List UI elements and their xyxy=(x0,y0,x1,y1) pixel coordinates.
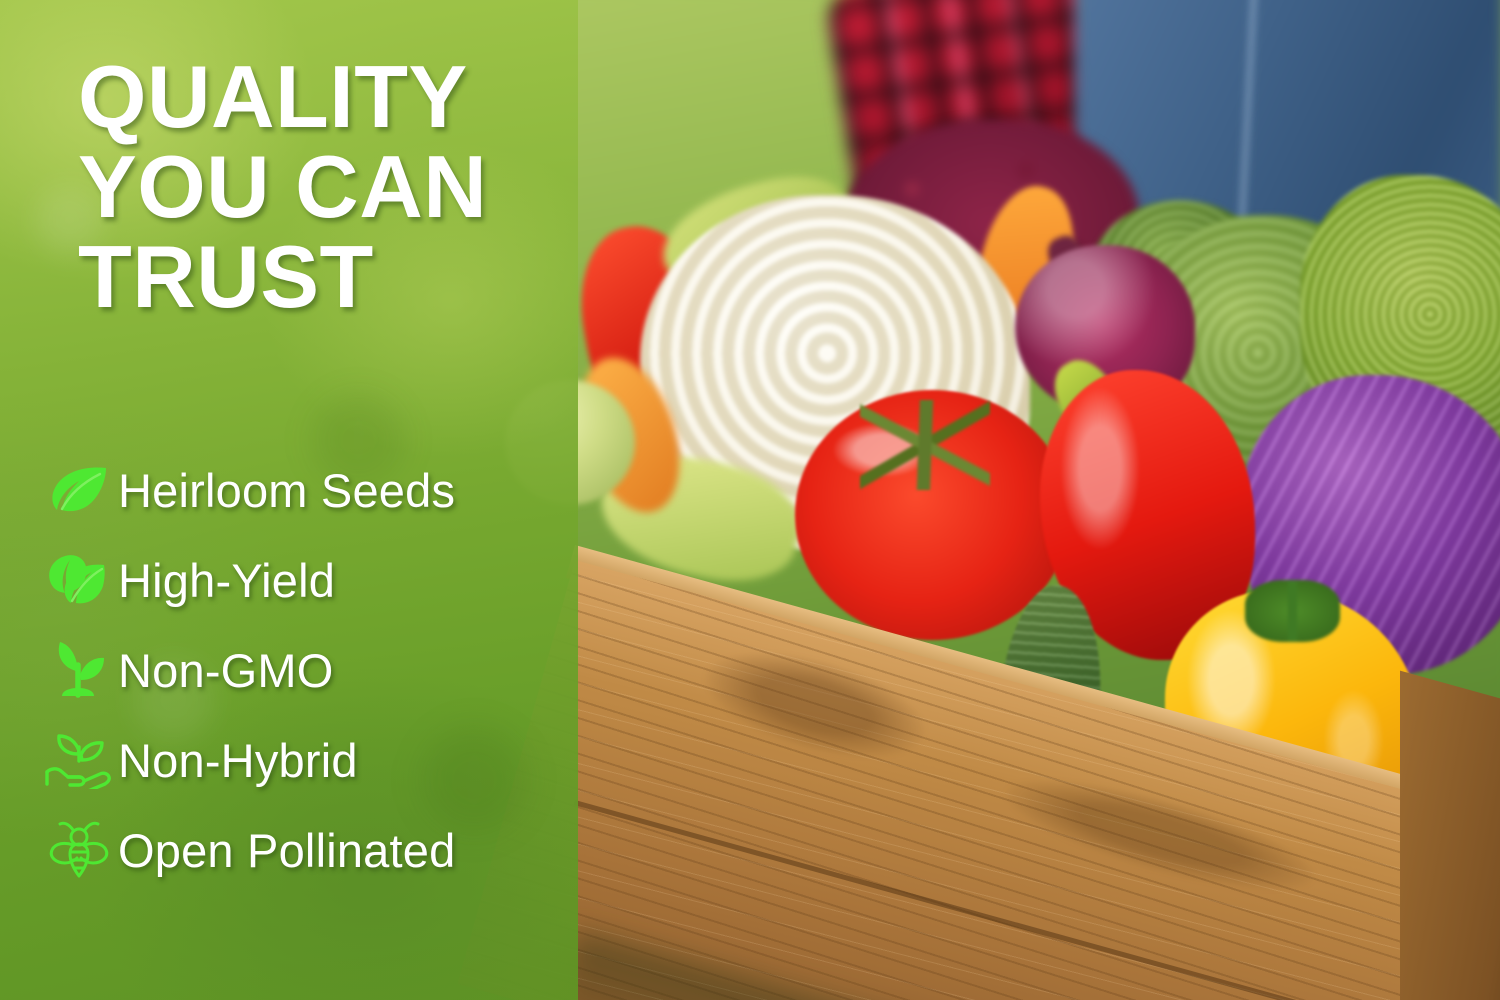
headline-line-1: QUALITY xyxy=(78,52,548,142)
list-item: Open Pollinated xyxy=(40,805,580,895)
panel-content: QUALITY YOU CAN TRUST Heirloom Seeds xyxy=(0,0,578,1000)
hand-sprout-icon xyxy=(40,724,118,796)
leaf-icon xyxy=(40,454,118,526)
feature-label: Non-Hybrid xyxy=(118,733,358,788)
headline-line-3: TRUST xyxy=(78,232,548,322)
sprout-icon xyxy=(40,634,118,706)
list-item: Heirloom Seeds xyxy=(40,445,580,535)
headline-line-2: YOU CAN xyxy=(78,142,548,232)
feature-label: Non-GMO xyxy=(118,643,334,698)
feature-list: Heirloom Seeds High-Yield xyxy=(40,445,580,895)
feature-label: Open Pollinated xyxy=(118,823,455,878)
bee-icon xyxy=(40,814,118,886)
wooden-crate-side xyxy=(1400,671,1500,1000)
double-leaf-icon xyxy=(40,544,118,616)
page-title: QUALITY YOU CAN TRUST xyxy=(78,52,548,321)
feature-label: High-Yield xyxy=(118,553,335,608)
promo-banner: QUALITY YOU CAN TRUST Heirloom Seeds xyxy=(0,0,1500,1000)
list-item: High-Yield xyxy=(40,535,580,625)
tomato-calyx xyxy=(860,400,990,490)
list-item: Non-Hybrid xyxy=(40,715,580,805)
list-item: Non-GMO xyxy=(40,625,580,715)
feature-label: Heirloom Seeds xyxy=(118,463,455,518)
yellow-pepper-stem xyxy=(1245,580,1340,642)
